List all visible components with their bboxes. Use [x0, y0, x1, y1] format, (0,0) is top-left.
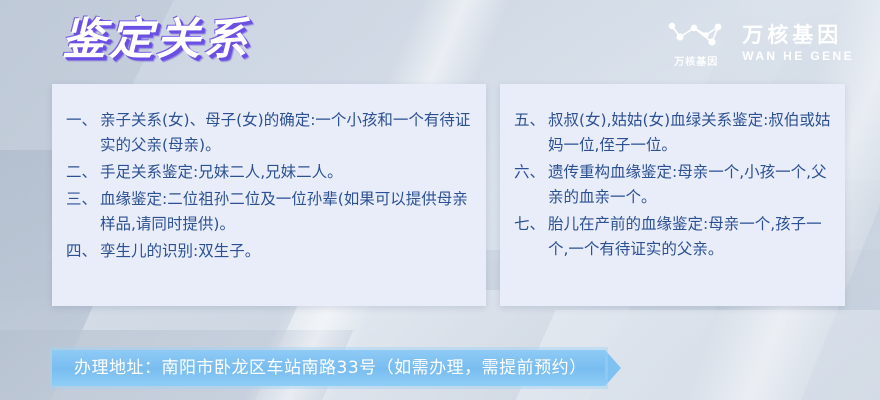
- brand-name-en: WAN HE GENE: [742, 49, 854, 64]
- list-item-number: 五、: [514, 108, 548, 133]
- address-banner-body: 办理地址：南阳市卧龙区车站南路33号（如需办理，需提前预约）: [52, 350, 605, 386]
- list-item: 七、 胎儿在产前的血缘鉴定:母亲一个,孩子一个,一个有待证实的父亲。: [514, 212, 831, 262]
- list-item-text: 亲子关系(女)、母子(女)的确定:一个小孩和一个有待证实的父亲(母亲)。: [100, 108, 472, 158]
- brand-logo: 万核基因 万核基因 WAN HE GENE: [666, 20, 854, 68]
- list-item-text: 孪生儿的识别:双生子。: [100, 239, 472, 264]
- list-item: 五、 叔叔(女),姑姑(女)血绿关系鉴定:叔伯或姑妈一位,侄子一位。: [514, 108, 831, 158]
- list-item-text: 遗传重构血缘鉴定:母亲一个,小孩一个,父亲的血亲一个。: [548, 160, 831, 210]
- brand-wordmark: 万核基因 WAN HE GENE: [742, 24, 854, 64]
- list-item: 一、 亲子关系(女)、母子(女)的确定:一个小孩和一个有待证实的父亲(母亲)。: [66, 108, 472, 158]
- list-item: 二、 手足关系鉴定:兄妹二人,兄妹二人。: [66, 160, 472, 185]
- list-item: 四、 孪生儿的识别:双生子。: [66, 239, 472, 264]
- list-item-number: 一、: [66, 108, 100, 133]
- brand-mark: 万核基因: [666, 20, 726, 68]
- list-item-text: 血缘鉴定:二位祖孙二位及一位孙辈(如果可以提供母亲样品,请同时提供)。: [100, 187, 472, 237]
- content-panel-right: 五、 叔叔(女),姑姑(女)血绿关系鉴定:叔伯或姑妈一位,侄子一位。 六、 遗传…: [500, 84, 845, 306]
- address-banner-arrow-icon: [605, 350, 621, 386]
- list-item: 六、 遗传重构血缘鉴定:母亲一个,小孩一个,父亲的血亲一个。: [514, 160, 831, 210]
- list-item-text: 叔叔(女),姑姑(女)血绿关系鉴定:叔伯或姑妈一位,侄子一位。: [548, 108, 831, 158]
- list-item: 三、 血缘鉴定:二位祖孙二位及一位孙辈(如果可以提供母亲样品,请同时提供)。: [66, 187, 472, 237]
- list-item-text: 胎儿在产前的血缘鉴定:母亲一个,孩子一个,一个有待证实的父亲。: [548, 212, 831, 262]
- address-text: 办理地址：南阳市卧龙区车站南路33号（如需办理，需提前预约）: [74, 350, 587, 386]
- list-item-number: 六、: [514, 160, 548, 185]
- list-item-number: 二、: [66, 160, 100, 185]
- list-item-number: 七、: [514, 212, 548, 237]
- relationship-list-left: 一、 亲子关系(女)、母子(女)的确定:一个小孩和一个有待证实的父亲(母亲)。 …: [66, 108, 472, 264]
- page-title: 鉴定关系: [62, 14, 250, 66]
- address-banner: 办理地址：南阳市卧龙区车站南路33号（如需办理，需提前预约）: [52, 350, 621, 386]
- content-panel-left: 一、 亲子关系(女)、母子(女)的确定:一个小孩和一个有待证实的父亲(母亲)。 …: [52, 84, 486, 306]
- list-item-number: 三、: [66, 187, 100, 212]
- relationship-list-right: 五、 叔叔(女),姑姑(女)血绿关系鉴定:叔伯或姑妈一位,侄子一位。 六、 遗传…: [514, 108, 831, 262]
- poster-canvas: 鉴定关系: [0, 0, 880, 400]
- list-item-text: 手足关系鉴定:兄妹二人,兄妹二人。: [100, 160, 472, 185]
- brand-name-cn: 万核基因: [742, 24, 854, 48]
- brand-mark-text: 万核基因: [674, 53, 718, 68]
- list-item-number: 四、: [66, 239, 100, 264]
- molecule-node-icon: [666, 20, 726, 50]
